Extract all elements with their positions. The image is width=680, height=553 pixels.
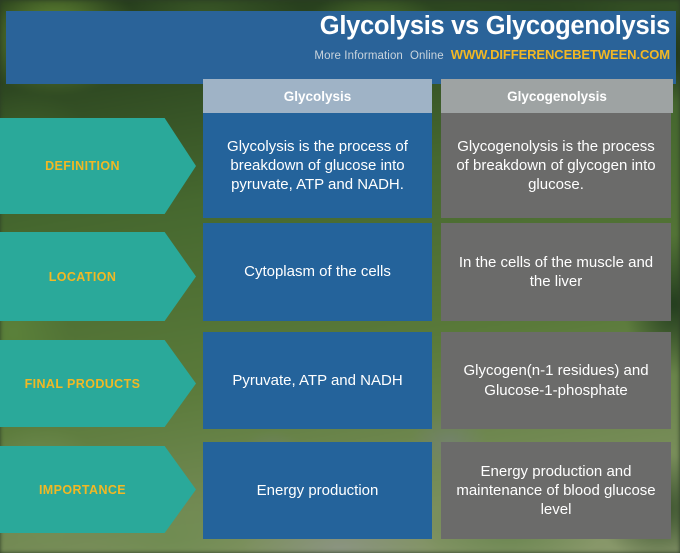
subtitle-row: More Information Online WWW.DIFFERENCEBE… xyxy=(314,47,670,62)
page-title: Glycolysis vs Glycogenolysis xyxy=(320,12,670,41)
table-cell-left: Pyruvate, ATP and NADH xyxy=(203,332,432,429)
row-label-arrow: FINAL PRODUCTS xyxy=(0,340,196,427)
row-label-text: FINAL PRODUCTS xyxy=(0,377,165,391)
table-cell-right: Glycogenolysis is the process of breakdo… xyxy=(441,113,671,218)
row-label-arrow: IMPORTANCE xyxy=(0,446,196,533)
row-label-arrow: DEFINITION xyxy=(0,118,196,214)
site-url-link[interactable]: WWW.DIFFERENCEBETWEEN.COM xyxy=(451,47,670,62)
row-label-arrow: LOCATION xyxy=(0,232,196,321)
table-cell-left: Glycolysis is the process of breakdown o… xyxy=(203,113,432,218)
subtitle-more-information: More Information xyxy=(314,50,403,62)
row-label-text: LOCATION xyxy=(0,270,165,284)
row-label-text: DEFINITION xyxy=(0,159,165,173)
subtitle-online: Online xyxy=(410,50,444,62)
title-banner: Glycolysis vs Glycogenolysis More Inform… xyxy=(6,11,676,84)
table-cell-left: Energy production xyxy=(203,442,432,539)
comparison-infographic: Glycolysis vs Glycogenolysis More Inform… xyxy=(0,0,680,553)
column-header-glycogenolysis: Glycogenolysis xyxy=(441,79,673,113)
column-header-glycolysis: Glycolysis xyxy=(203,79,432,113)
table-cell-right: Glycogen(n-1 residues) and Glucose-1-pho… xyxy=(441,332,671,429)
table-cell-left: Cytoplasm of the cells xyxy=(203,223,432,321)
table-cell-right: Energy production and maintenance of blo… xyxy=(441,442,671,539)
row-label-text: IMPORTANCE xyxy=(0,483,165,497)
table-cell-right: In the cells of the muscle and the liver xyxy=(441,223,671,321)
